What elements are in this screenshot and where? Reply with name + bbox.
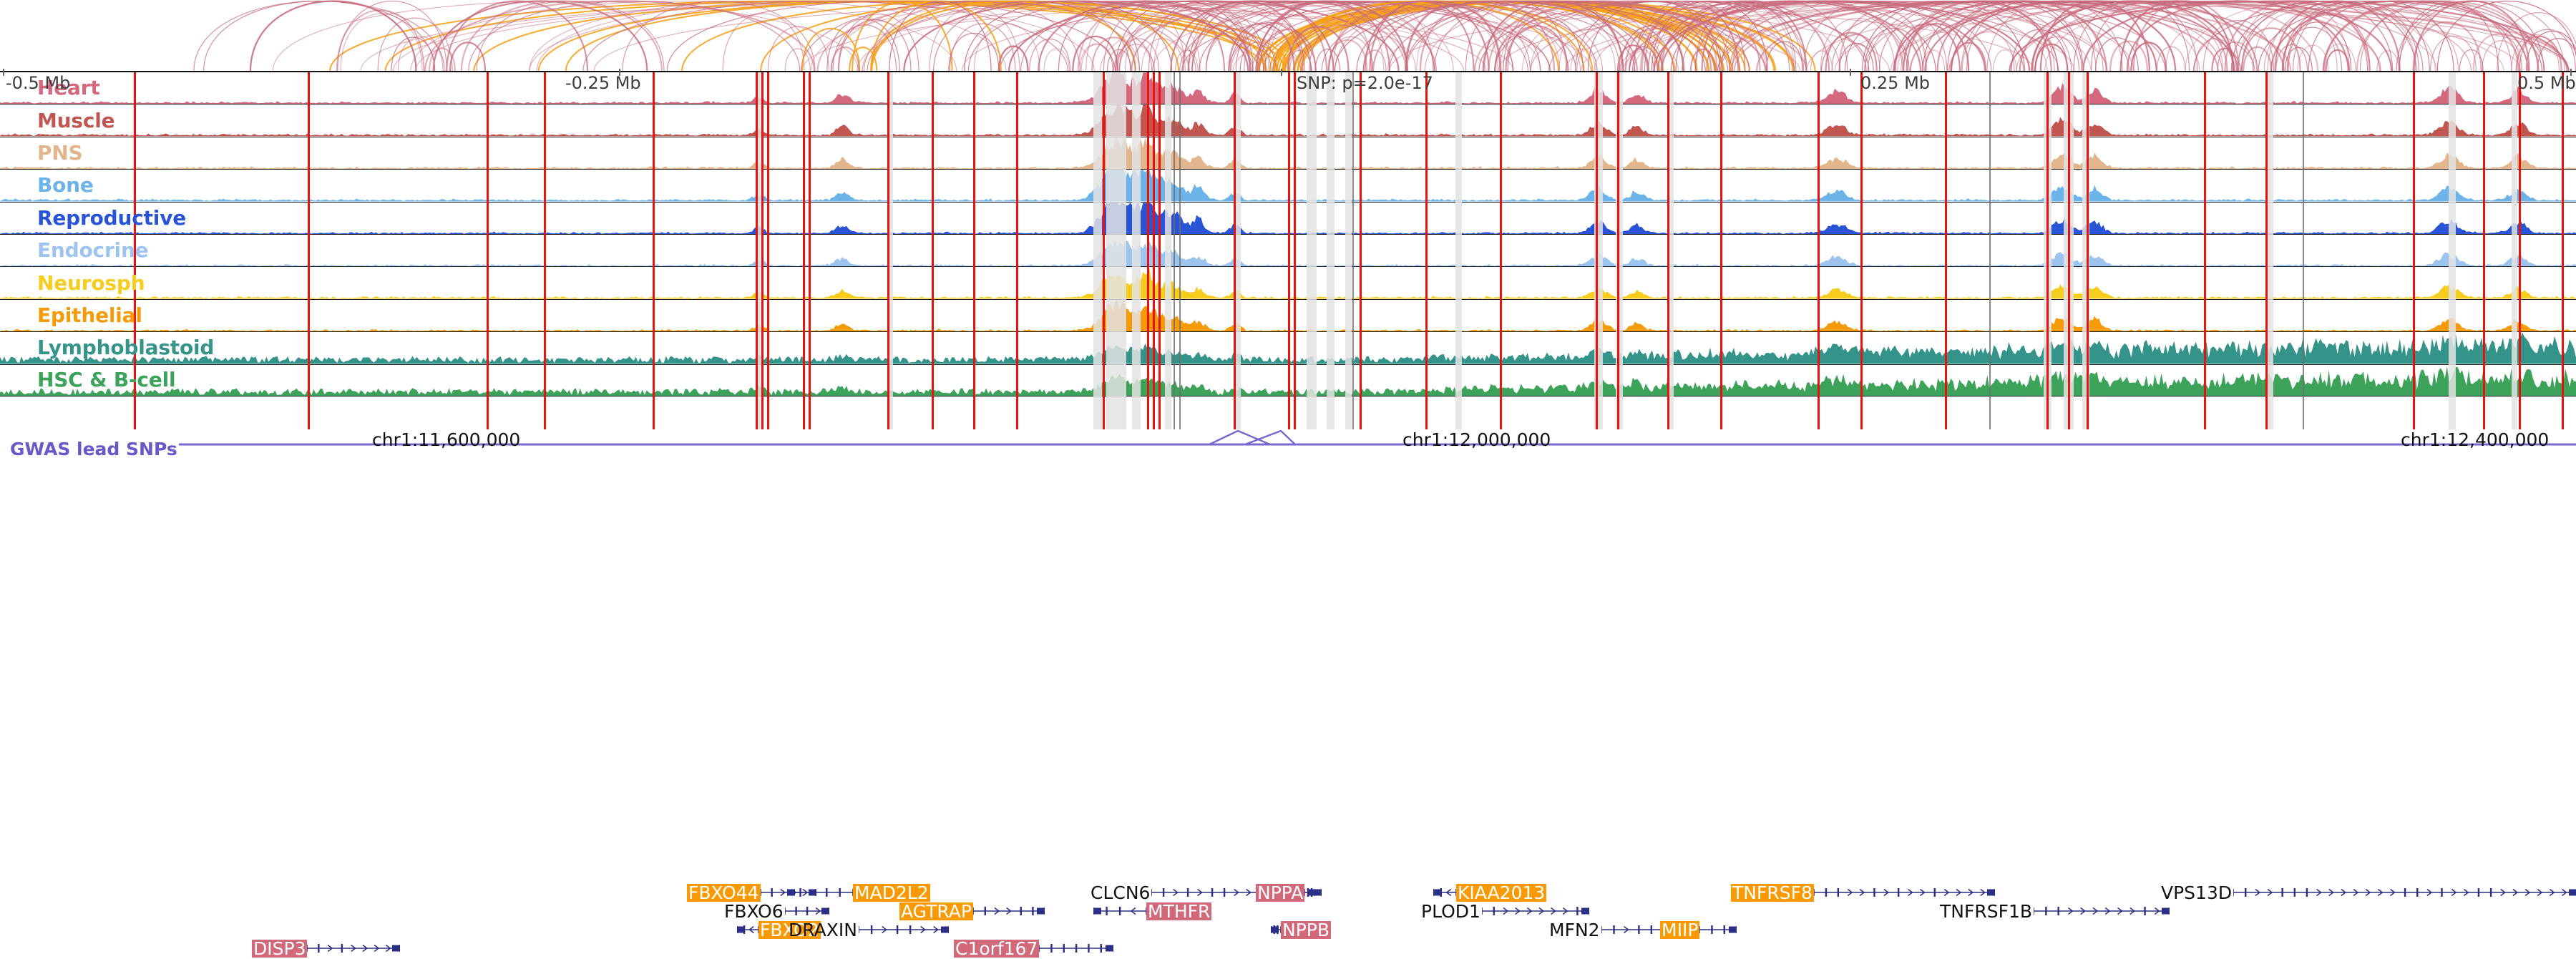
signal-profile (0, 137, 2576, 169)
gene-model-nppb[interactable]: NPPB (1271, 922, 1331, 938)
axis-tick-label-3: 0.25 Mb (1860, 73, 1930, 93)
gwas-lead-snps-label: GWAS lead SNPs (10, 439, 177, 459)
signal-profile (0, 104, 2576, 136)
gene-transcript-body (1093, 903, 1146, 919)
gene-model-miip[interactable]: MIIP (1660, 922, 1737, 938)
interaction-arc (273, 1, 858, 72)
genomic-axis-line (0, 71, 2576, 72)
genomic-coordinate-label-1: chr1:12,000,000 (1402, 429, 1551, 450)
gene-model-plod1[interactable]: PLOD1 (1420, 903, 1589, 919)
gene-label: FBXO6 (723, 902, 785, 920)
gene-model-disp3[interactable]: DISP3 (252, 940, 400, 956)
gene-label: DISP3 (252, 940, 307, 958)
gene-label: MTHFR (1146, 902, 1211, 920)
gene-transcript-body (1482, 903, 1589, 919)
gene-transcript-body (1039, 940, 1113, 956)
axis-tick (3, 69, 4, 76)
gene-model-nppa[interactable]: NPPA (1256, 885, 1315, 900)
gene-transcript-body (2233, 885, 2576, 900)
gene-transcript-body (307, 940, 400, 956)
signal-track-bone[interactable]: Bone (0, 169, 2576, 201)
gene-label: AGTRAP (899, 902, 973, 920)
gene-label: VPS13D (2160, 884, 2233, 902)
gene-transcript-body (787, 885, 853, 900)
gene-label: DRAXIN (787, 921, 859, 939)
track-label-bone: Bone (37, 173, 94, 197)
gene-transcript-body (973, 903, 1045, 919)
gene-label: MAD2L2 (853, 884, 930, 902)
chromatin-interaction-arcs (0, 0, 2576, 72)
genome-browser-figure: -0.5 Mb-0.25 MbSNP: p=2.0e-170.25 Mb0.5 … (0, 0, 2576, 537)
axis-tick-label-4: 0.5 Mb (2517, 73, 2576, 93)
gene-model-c1orf167[interactable]: C1orf167 (954, 940, 1113, 956)
gene-label: CLCN6 (1089, 884, 1151, 902)
gene-transcript-body (1699, 922, 1737, 938)
signal-track-reproductive[interactable]: Reproductive (0, 202, 2576, 234)
gene-transcript-body (1433, 885, 1456, 900)
gene-label: NPPB (1281, 921, 1331, 939)
signal-profile (0, 299, 2576, 331)
track-label-lymphoblastoid: Lymphoblastoid (37, 336, 214, 359)
track-label-epithelial: Epithelial (37, 303, 142, 327)
gene-transcript-body (859, 922, 949, 938)
signal-track-pns[interactable]: PNS (0, 137, 2576, 169)
signal-profile (0, 266, 2576, 298)
gene-model-vps13d[interactable]: VPS13D (2160, 885, 2576, 900)
gene-label: TNFRSF1B (1938, 902, 2034, 920)
genomic-coordinate-label-0: chr1:11,600,000 (372, 429, 520, 450)
track-label-neurosph: Neurosph (37, 271, 145, 294)
interaction-arc (447, 1, 587, 72)
genomic-coordinate-label-2: chr1:12,400,000 (2401, 429, 2549, 450)
gene-model-agtrap[interactable]: AGTRAP (899, 903, 1045, 919)
signal-profile (0, 202, 2576, 234)
signal-profile (0, 169, 2576, 201)
gene-label: TNFRSF8 (1731, 884, 1814, 902)
axis-tick (1281, 69, 1282, 76)
interaction-arc (1030, 39, 1070, 72)
gene-label: MIIP (1660, 921, 1699, 939)
signal-track-lymphoblastoid[interactable]: Lymphoblastoid (0, 331, 2576, 364)
epigenome-signal-track-stack: HeartMusclePNSBoneReproductiveEndocrineN… (0, 72, 2576, 429)
signal-track-endocrine[interactable]: Endocrine (0, 234, 2576, 266)
gene-label: C1orf167 (954, 940, 1039, 958)
track-label-endocrine: Endocrine (37, 238, 148, 262)
track-label-reproductive: Reproductive (37, 206, 186, 230)
signal-track-hsc-b-cell[interactable]: HSC & B-cell (0, 364, 2576, 396)
signal-profile (0, 72, 2576, 104)
signal-profile (0, 364, 2576, 396)
gene-label: FBXO44 (687, 884, 761, 902)
gene-model-fbxo6[interactable]: FBXO6 (723, 903, 829, 919)
gene-transcript-body (2034, 903, 2170, 919)
signal-track-muscle[interactable]: Muscle (0, 104, 2576, 136)
track-label-hsc-b-cell: HSC & B-cell (37, 368, 175, 391)
gene-model-tnfrsf1b[interactable]: TNFRSF1B (1938, 903, 2170, 919)
gene-transcript-body (1814, 885, 1995, 900)
track-label-muscle: Muscle (37, 108, 114, 132)
gene-transcript-body (737, 922, 758, 938)
gene-transcript-body (1271, 922, 1281, 938)
signal-track-neurosph[interactable]: Neurosph (0, 266, 2576, 298)
gene-label: PLOD1 (1420, 902, 1482, 920)
axis-tick (1850, 69, 1851, 76)
gene-transcript-body (1304, 885, 1315, 900)
signal-profile (0, 331, 2576, 364)
interaction-arc (204, 1, 435, 72)
gene-label: MFN2 (1548, 921, 1601, 939)
signal-track-heart[interactable]: Heart (0, 72, 2576, 104)
signal-profile (0, 234, 2576, 266)
gene-transcript-body (785, 903, 829, 919)
gene-model-mthfr[interactable]: MTHFR (1093, 903, 1211, 919)
track-label-pns: PNS (37, 141, 83, 165)
signal-track-epithelial[interactable]: Epithelial (0, 299, 2576, 331)
gene-model-tnfrsf8[interactable]: TNFRSF8 (1731, 885, 1995, 900)
gene-model-mad2l2[interactable]: MAD2L2 (787, 885, 930, 900)
axis-tick-label-2: SNP: p=2.0e-17 (1297, 73, 1433, 93)
gene-label: KIAA2013 (1456, 884, 1546, 902)
gene-model-kiaa2013[interactable]: KIAA2013 (1433, 885, 1546, 900)
gene-model-draxin[interactable]: DRAXIN (787, 922, 949, 938)
axis-tick-label-1: -0.25 Mb (565, 73, 641, 93)
gene-label: NPPA (1256, 884, 1304, 902)
axis-tick-label-0: -0.5 Mb (6, 73, 70, 93)
